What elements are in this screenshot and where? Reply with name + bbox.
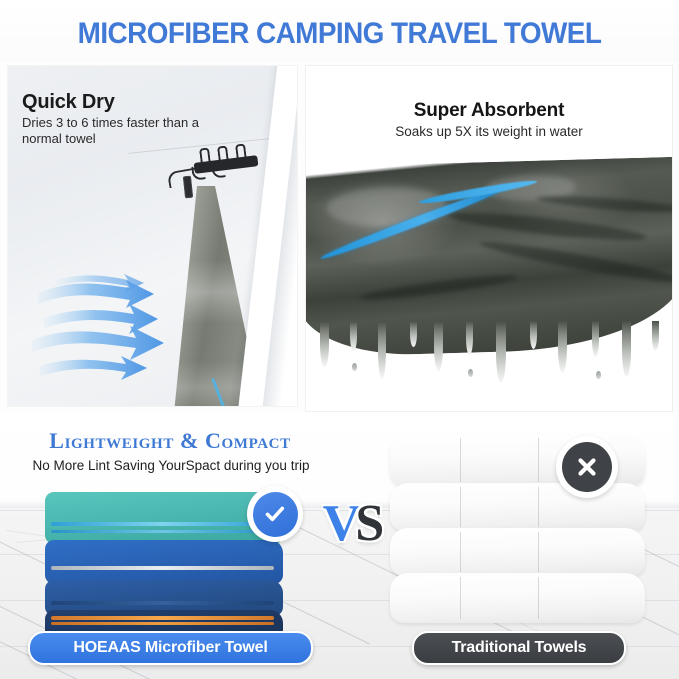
list-item: [390, 528, 645, 576]
product-infographic: MICROFIBER CAMPING TRAVEL TOWEL: [0, 0, 679, 679]
versus-badge: VS: [316, 495, 386, 557]
lightweight-subtext: No More Lint Saving YourSpact during you…: [8, 458, 334, 473]
list-item: [390, 573, 645, 623]
panel-quick-dry: Quick Dry Dries 3 to 6 times faster than…: [8, 66, 297, 406]
header-banner: MICROFIBER CAMPING TRAVEL TOWEL: [0, 0, 679, 62]
list-item: [45, 540, 283, 584]
wall-hook-rack-icon: [194, 151, 260, 177]
traditional-label-badge: Traditional Towels: [412, 631, 626, 665]
lightweight-heading: Lightweight & Compact: [20, 428, 320, 454]
quick-dry-heading: Quick Dry: [22, 91, 115, 114]
quick-dry-subtext: Dries 3 to 6 times faster than a normal …: [22, 115, 202, 147]
super-absorbent-subtext: Soaks up 5X its weight in water: [306, 124, 672, 139]
versus-s: S: [355, 495, 379, 552]
x-circle-icon: [556, 436, 618, 498]
product-label-badge: HOEAAS Microfiber Towel: [28, 631, 313, 665]
towel-loop-cord: [167, 168, 197, 189]
page-title: MICROFIBER CAMPING TRAVEL TOWEL: [24, 17, 655, 51]
water-drips: [306, 321, 672, 411]
panel-super-absorbent: Super Absorbent Soaks up 5X its weight i…: [306, 66, 672, 411]
airflow-arrows-icon: [30, 266, 210, 396]
check-circle-icon: [247, 486, 303, 542]
versus-v: V: [323, 495, 356, 552]
super-absorbent-heading: Super Absorbent: [306, 100, 672, 122]
